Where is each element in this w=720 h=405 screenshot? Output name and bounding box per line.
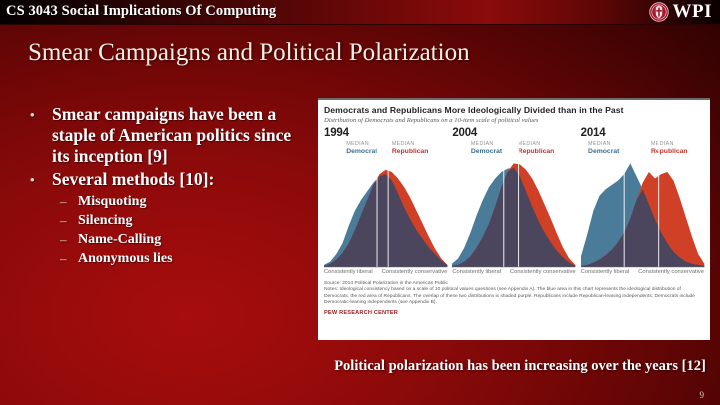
axis-captions: Consistently liberal Consistently conser… <box>324 269 447 276</box>
course-title: CS 3043 Social Implications Of Computing <box>6 3 276 20</box>
axis-captions: Consistently liberal Consistently conser… <box>452 269 575 276</box>
median-republican-label: MEDIAN Republican <box>392 141 429 155</box>
chart-subtitle: Distribution of Democrats and Republican… <box>324 117 704 124</box>
list-item-label: Misquoting <box>78 192 312 211</box>
panel-year-label: 2004 <box>452 127 575 139</box>
bullet-dot-icon: • <box>30 104 52 125</box>
chart-panels: 1994 MEDIAN Democrat MEDIAN Republican C… <box>324 127 704 276</box>
list-item-label: Name-Calling <box>78 230 312 249</box>
distribution-svg <box>324 159 447 267</box>
distribution-plot <box>581 159 704 267</box>
median-democrat-label: MEDIAN Democrat <box>346 141 377 155</box>
bullet-dash-icon: – <box>30 249 78 268</box>
sub-bullet-list: – Misquoting – Silencing – Name-Calling … <box>30 192 312 268</box>
pew-research-center-credit: PEW RESEARCH CENTER <box>324 310 704 316</box>
page-number: 9 <box>700 390 705 400</box>
slide-header-bar: CS 3043 Social Implications Of Computing… <box>0 0 720 25</box>
axis-label-left: Consistently liberal <box>324 269 373 276</box>
median-republican-label: MEDIAN Republican <box>651 141 688 155</box>
axis-captions: Consistently liberal Consistently conser… <box>581 269 704 276</box>
pew-research-chart: Democrats and Republicans More Ideologic… <box>318 98 710 340</box>
distribution-plot <box>452 159 575 267</box>
list-item-label: Smear campaigns have been a staple of Am… <box>52 104 312 167</box>
median-labels: MEDIAN Democrat MEDIAN Republican <box>581 141 704 159</box>
list-item: – Anonymous lies <box>30 249 312 268</box>
median-democrat-label: MEDIAN Democrat <box>471 141 502 155</box>
wpi-seal-icon <box>649 2 669 22</box>
list-item: – Name-Calling <box>30 230 312 249</box>
axis-label-right: Consistently conservative <box>510 269 576 276</box>
distribution-plot <box>324 159 447 267</box>
axis-label-right: Consistently conservative <box>638 269 704 276</box>
overlap-area <box>324 174 447 267</box>
axis-label-right: Consistently conservative <box>382 269 448 276</box>
page-title: Smear Campaigns and Political Polarizati… <box>28 39 470 67</box>
bullet-dash-icon: – <box>30 192 78 211</box>
list-item: • Several methods [10]: <box>30 169 312 190</box>
bullet-dot-icon: • <box>30 169 52 190</box>
list-item-label: Silencing <box>78 211 312 230</box>
list-item-label: Anonymous lies <box>78 249 312 268</box>
distribution-svg <box>581 159 704 267</box>
distribution-svg <box>452 159 575 267</box>
panel-year-label: 1994 <box>324 127 447 139</box>
slide-canvas: CS 3043 Social Implications Of Computing… <box>0 0 720 405</box>
list-item: – Misquoting <box>30 192 312 211</box>
chart-notes-line: Notes: Ideological consistency based on … <box>324 287 704 306</box>
chart-title: Democrats and Republicans More Ideologic… <box>324 105 704 115</box>
wpi-logo: WPI <box>649 1 713 23</box>
chart-panel-2004: 2004 MEDIAN Democrat MEDIAN Republican C… <box>452 127 575 276</box>
median-republican-label: MEDIAN Republican <box>518 141 555 155</box>
slide-caption: Political polarization has been increasi… <box>330 358 710 375</box>
bullet-dash-icon: – <box>30 230 78 249</box>
axis-label-left: Consistently liberal <box>581 269 630 276</box>
median-democrat-label: MEDIAN Democrat <box>588 141 619 155</box>
panel-year-label: 2014 <box>581 127 704 139</box>
median-labels: MEDIAN Democrat MEDIAN Republican <box>452 141 575 159</box>
chart-panel-2014: 2014 MEDIAN Democrat MEDIAN Republican C… <box>581 127 704 276</box>
wpi-wordmark: WPI <box>673 1 713 23</box>
axis-label-left: Consistently liberal <box>452 269 501 276</box>
list-item-label: Several methods [10]: <box>52 169 312 190</box>
chart-notes: Source: 2014 Political Polarization in t… <box>324 281 704 306</box>
bullet-list: • Smear campaigns have been a staple of … <box>30 104 312 268</box>
median-labels: MEDIAN Democrat MEDIAN Republican <box>324 141 447 159</box>
list-item: – Silencing <box>30 211 312 230</box>
bullet-dash-icon: – <box>30 211 78 230</box>
chart-panel-1994: 1994 MEDIAN Democrat MEDIAN Republican C… <box>324 127 447 276</box>
list-item: • Smear campaigns have been a staple of … <box>30 104 312 167</box>
